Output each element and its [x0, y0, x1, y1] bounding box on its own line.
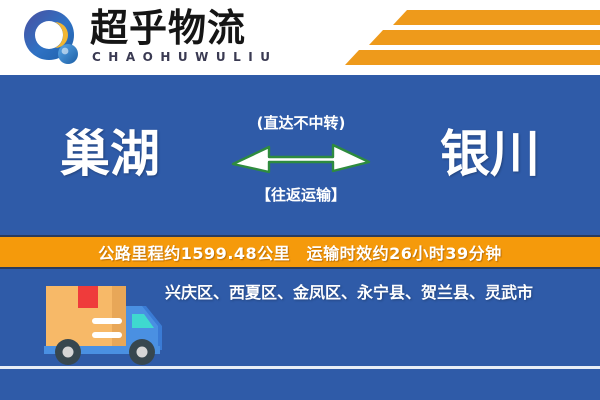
banner-header: 超乎物流 CHAOHUWULIU	[0, 0, 600, 75]
brand-name-zh: 超乎物流	[90, 6, 246, 50]
stripe-1	[393, 10, 600, 25]
brand-name-pinyin: CHAOHUWULIU	[92, 50, 277, 64]
logistics-route-banner: 超乎物流 CHAOHUWULIU 巢湖 银川 (直达不中转) 【往返运输】 公路…	[0, 0, 600, 400]
coverage-districts-text: 兴庆区、西夏区、金凤区、永宁县、贺兰县、灵武市	[165, 281, 590, 305]
bidirectional-arrow-icon	[229, 138, 373, 178]
orange-speed-stripes-icon	[345, 0, 600, 75]
delivery-truck-icon	[20, 278, 170, 370]
round-trip-note: 【往返运输】	[229, 184, 373, 205]
distance-duration-band: 公路里程约1599.48公里 运输时效约26小时39分钟	[0, 235, 600, 269]
distance-duration-text: 公路里程约1599.48公里 运输时效约26小时39分钟	[98, 240, 501, 264]
stripe-2	[369, 30, 600, 45]
circle-crescent-logo-icon	[22, 9, 82, 69]
destination-city: 银川	[440, 126, 540, 182]
route-arrow-block: (直达不中转) 【往返运输】	[229, 112, 373, 208]
origin-city: 巢湖	[60, 126, 160, 182]
direct-route-note: (直达不中转)	[229, 112, 373, 133]
stripe-3	[345, 50, 600, 65]
